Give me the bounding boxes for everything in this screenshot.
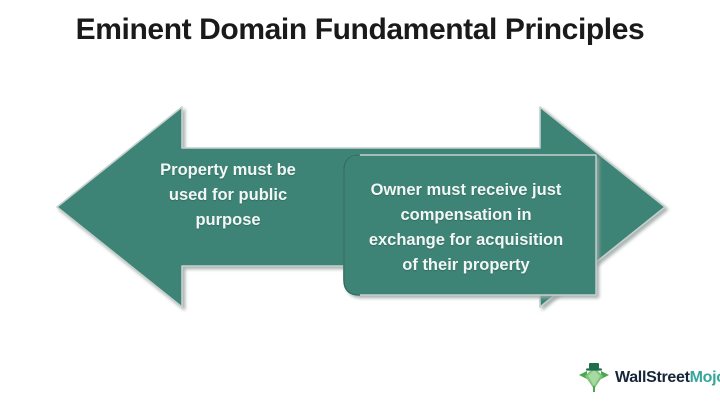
wallstreetmojo-mark-icon <box>578 362 610 394</box>
fundamental-principles-diagram: Property must be used for public purpose… <box>0 0 720 401</box>
logo-text-primary: WallStreet <box>615 369 690 386</box>
overlay-rounded-box <box>344 155 596 295</box>
logo-text-accent: Mojo <box>690 369 720 386</box>
wallstreetmojo-logo[interactable]: WallStreetMojo <box>578 361 714 395</box>
logo-wordmark: WallStreetMojo <box>615 370 720 386</box>
page-canvas: Eminent Domain Fundamental Principles Pr… <box>0 0 720 401</box>
diagram-svg <box>0 0 720 401</box>
overlay-box-path <box>344 155 596 295</box>
